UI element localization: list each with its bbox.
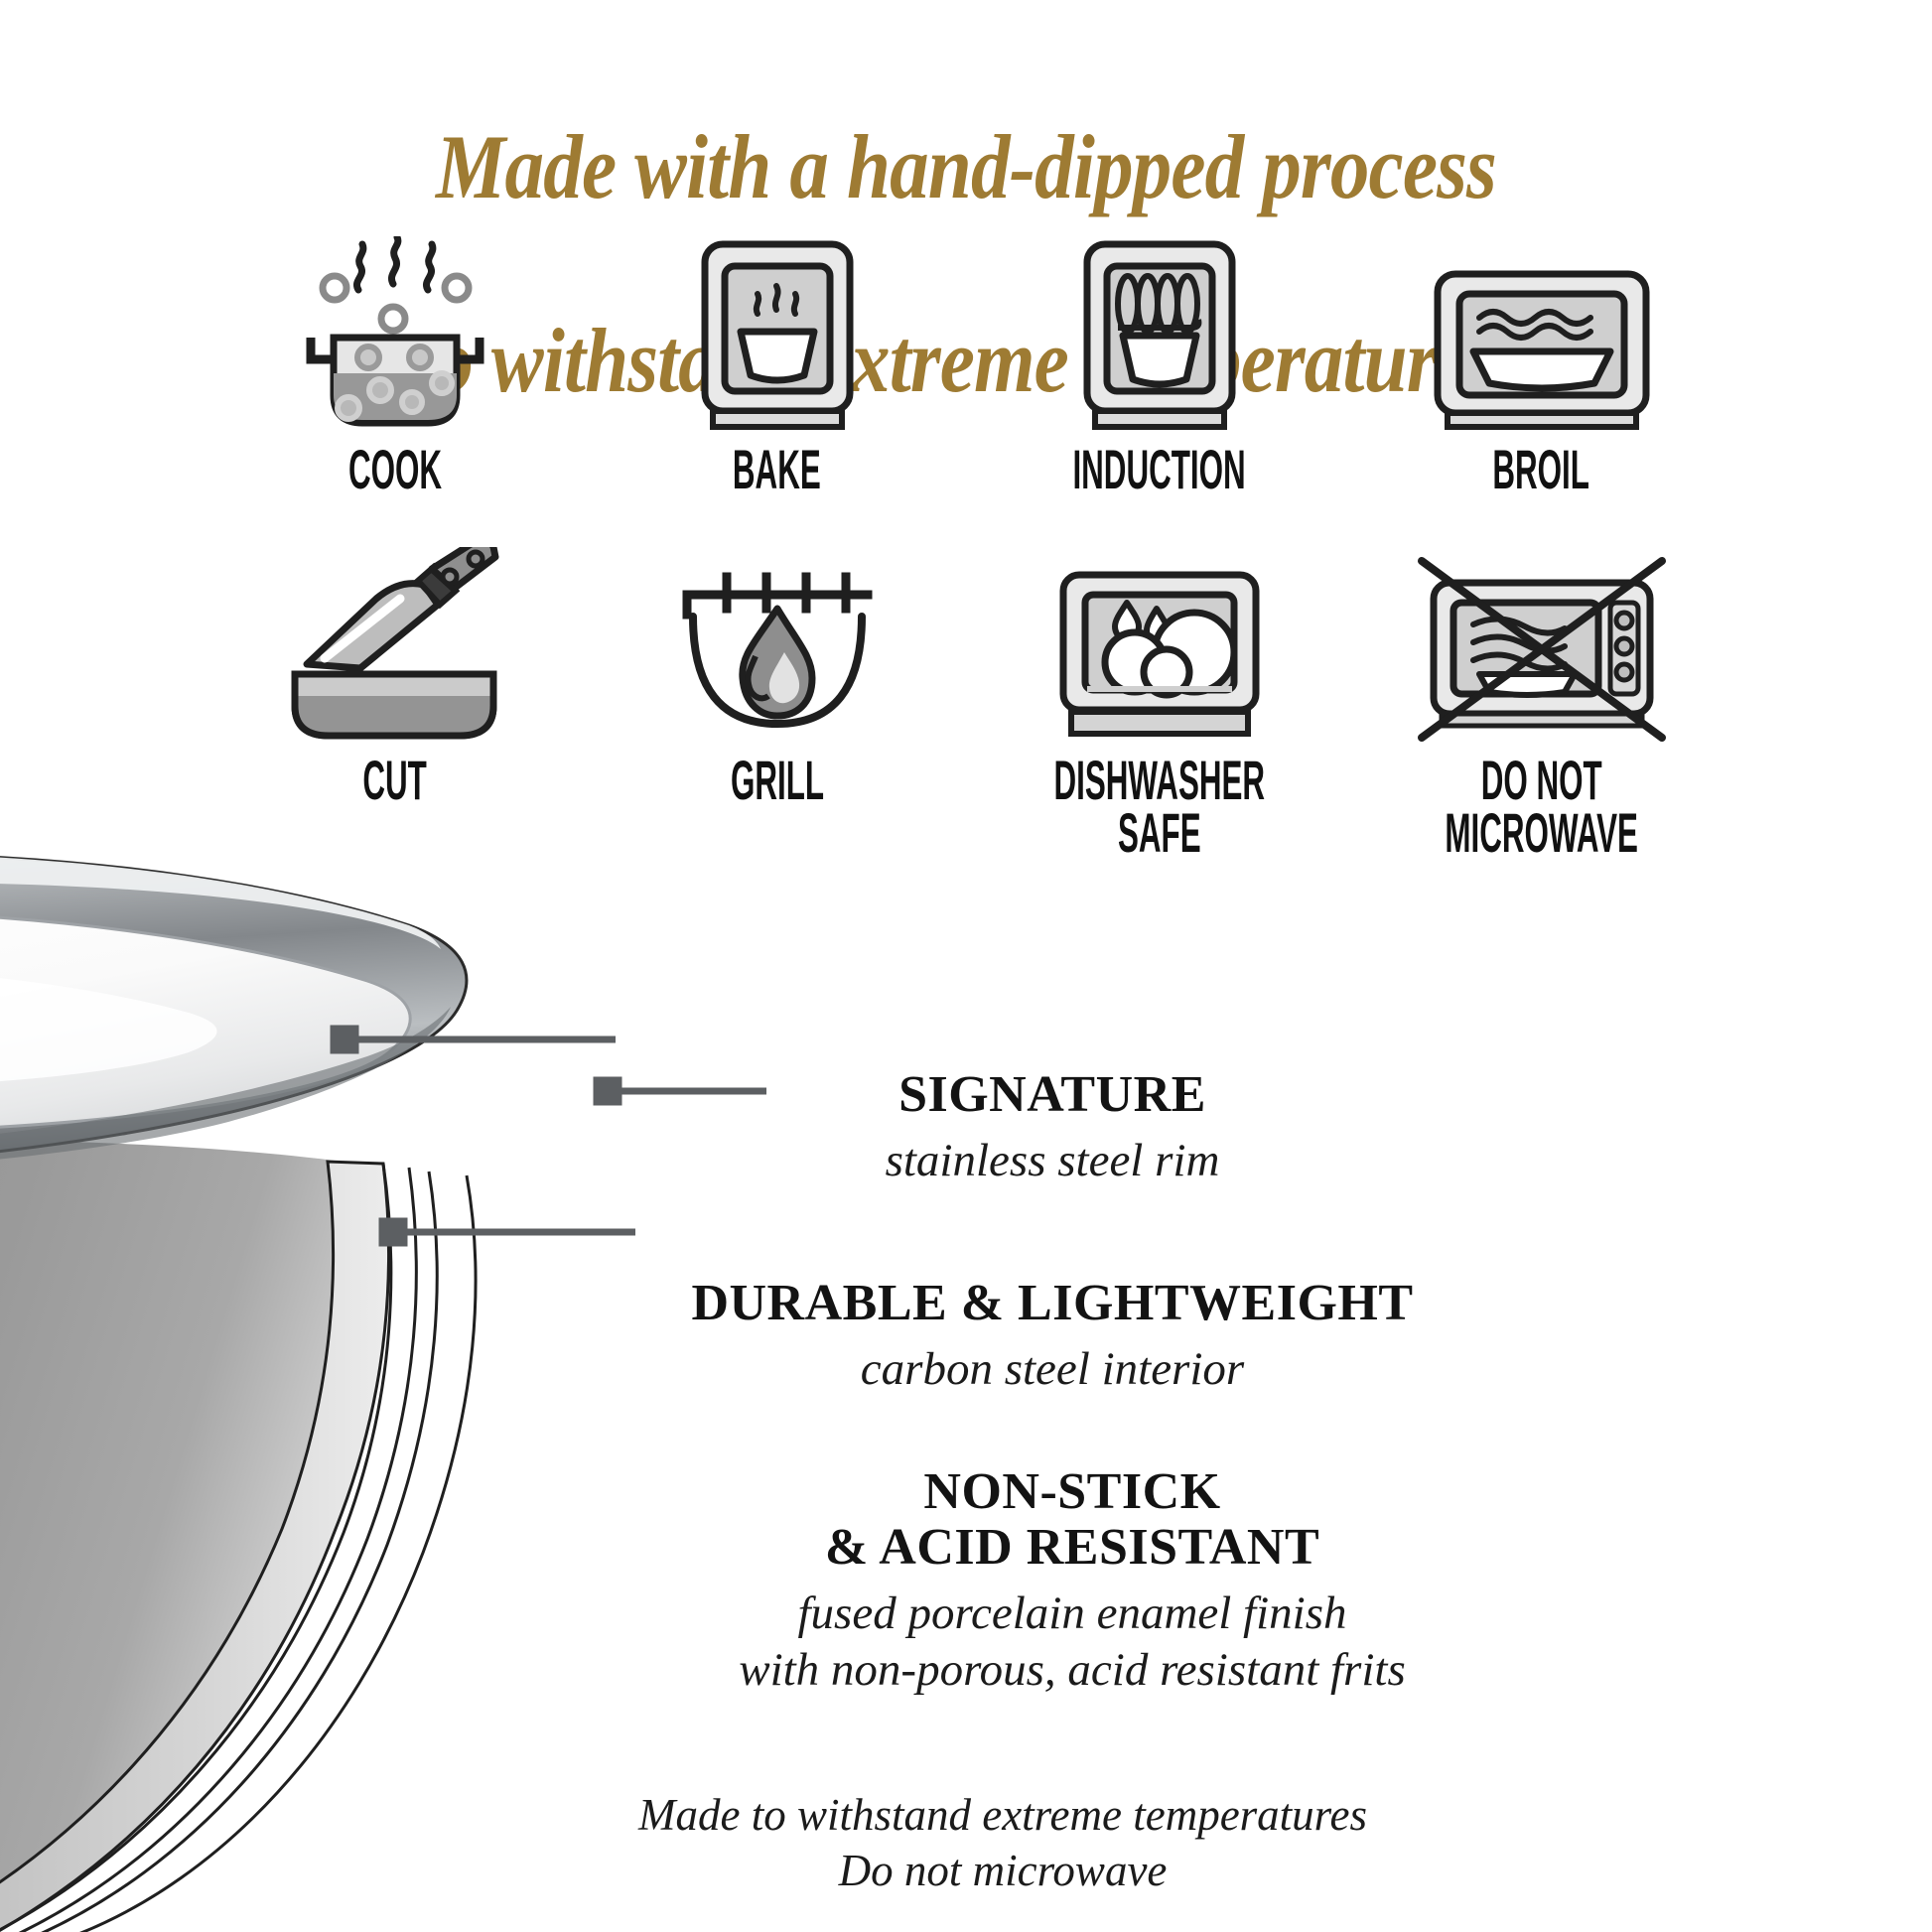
- footnote-care-text: Made to withstand extreme temperatures D…: [556, 1787, 1449, 1899]
- callout-durable-subtitle: carbon steel interior: [616, 1341, 1489, 1397]
- callout-durable-title: DURABLE & LIGHTWEIGHT: [616, 1276, 1489, 1331]
- callout-signature-title: SIGNATURE: [755, 1067, 1350, 1123]
- callout-signature-subtitle: stainless steel rim: [755, 1133, 1350, 1188]
- callout-signature: SIGNATURE stainless steel rim: [755, 1067, 1350, 1189]
- callout-nonstick-title: NON-STICK & ACID RESISTANT: [635, 1464, 1509, 1576]
- callout-durable: DURABLE & LIGHTWEIGHT carbon steel inter…: [616, 1276, 1489, 1398]
- infographic-canvas: Made with a hand-dipped process to withs…: [0, 0, 1932, 1932]
- callout-nonstick-subtitle: fused porcelain enamel finish with non-p…: [635, 1586, 1509, 1698]
- callout-nonstick: NON-STICK & ACID RESISTANT fused porcela…: [635, 1464, 1509, 1698]
